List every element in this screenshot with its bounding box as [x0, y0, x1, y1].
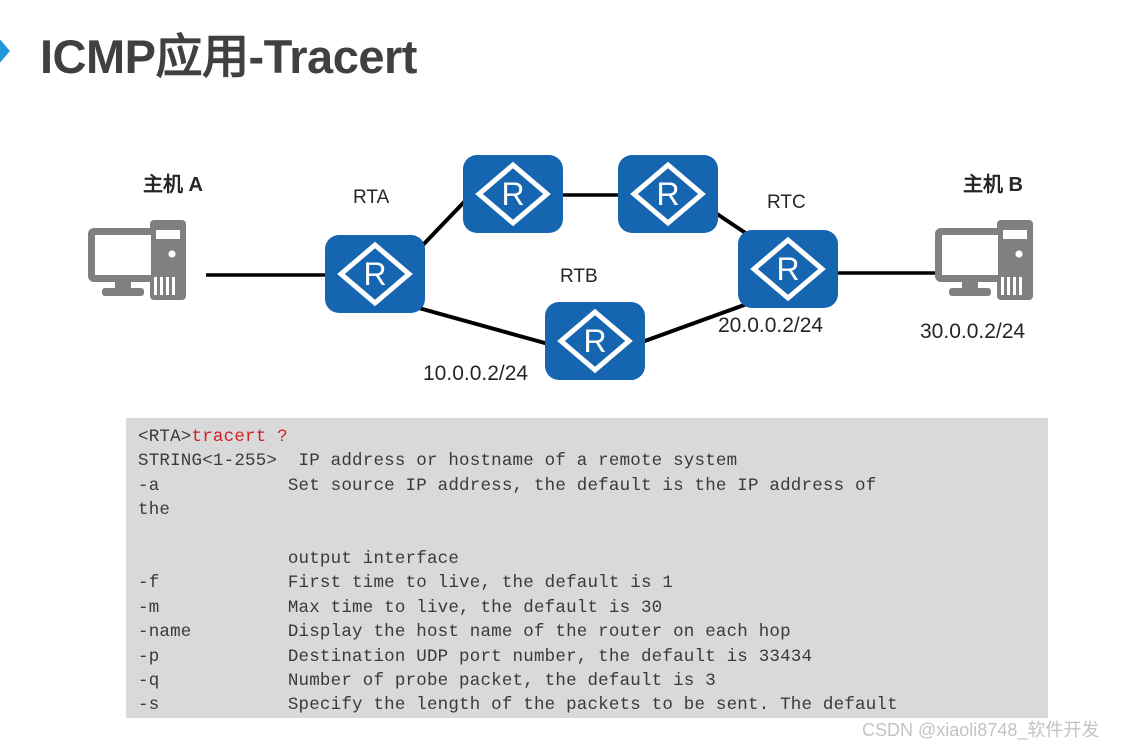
- node-host-a: [88, 220, 206, 302]
- router-icon: R: [545, 302, 645, 380]
- cli-prompt: <RTA>: [138, 427, 192, 447]
- router-icon: R: [463, 155, 563, 233]
- link-rta-rt1: [420, 200, 466, 248]
- node-host-b: [935, 220, 1053, 302]
- csdn-watermark: CSDN @xiaoli8748_软件开发: [862, 716, 1099, 742]
- link-rta-rtb: [408, 305, 552, 345]
- router-icon: R: [738, 230, 838, 308]
- node-router-top-2: R: [618, 155, 718, 233]
- pc-icon: [88, 220, 206, 302]
- node-label-host-b: 主机 B: [963, 168, 1023, 197]
- ip-label-rtb: 10.0.0.2/24: [423, 362, 528, 386]
- cli-output-block: <RTA>tracert ? STRING<1-255> IP address …: [126, 418, 1048, 718]
- svg-text:R: R: [776, 251, 799, 287]
- ip-label-host-b: 30.0.0.2/24: [920, 320, 1025, 344]
- router-icon: R: [325, 235, 425, 313]
- router-icon: R: [618, 155, 718, 233]
- node-rtc: R: [738, 230, 838, 308]
- svg-text:R: R: [583, 323, 606, 359]
- node-label-rtc: RTC: [767, 192, 806, 214]
- node-label-host-a: 主机 A: [143, 168, 203, 197]
- node-rtb: R: [545, 302, 645, 380]
- ip-label-rtc: 20.0.0.2/24: [718, 314, 823, 338]
- node-router-top-1: R: [463, 155, 563, 233]
- svg-text:R: R: [501, 176, 524, 212]
- network-topology-diagram: 主机 A R RTA R R R RTC R RTB: [0, 130, 1135, 405]
- cli-command: tracert ?: [192, 427, 288, 447]
- svg-text:R: R: [363, 256, 386, 292]
- cli-output-text: STRING<1-255> IP address or hostname of …: [138, 449, 1048, 718]
- chevron-right-icon: [0, 14, 28, 88]
- page-title: ICMP应用-Tracert: [40, 18, 417, 87]
- page-header: ICMP应用-Tracert: [0, 0, 1135, 110]
- node-label-rtb: RTB: [560, 266, 598, 288]
- node-label-rta: RTA: [353, 187, 389, 209]
- pc-icon: [935, 220, 1053, 302]
- node-rta: R: [325, 235, 425, 313]
- cli-prompt-line: <RTA>tracert ?: [138, 425, 1048, 449]
- svg-text:R: R: [656, 176, 679, 212]
